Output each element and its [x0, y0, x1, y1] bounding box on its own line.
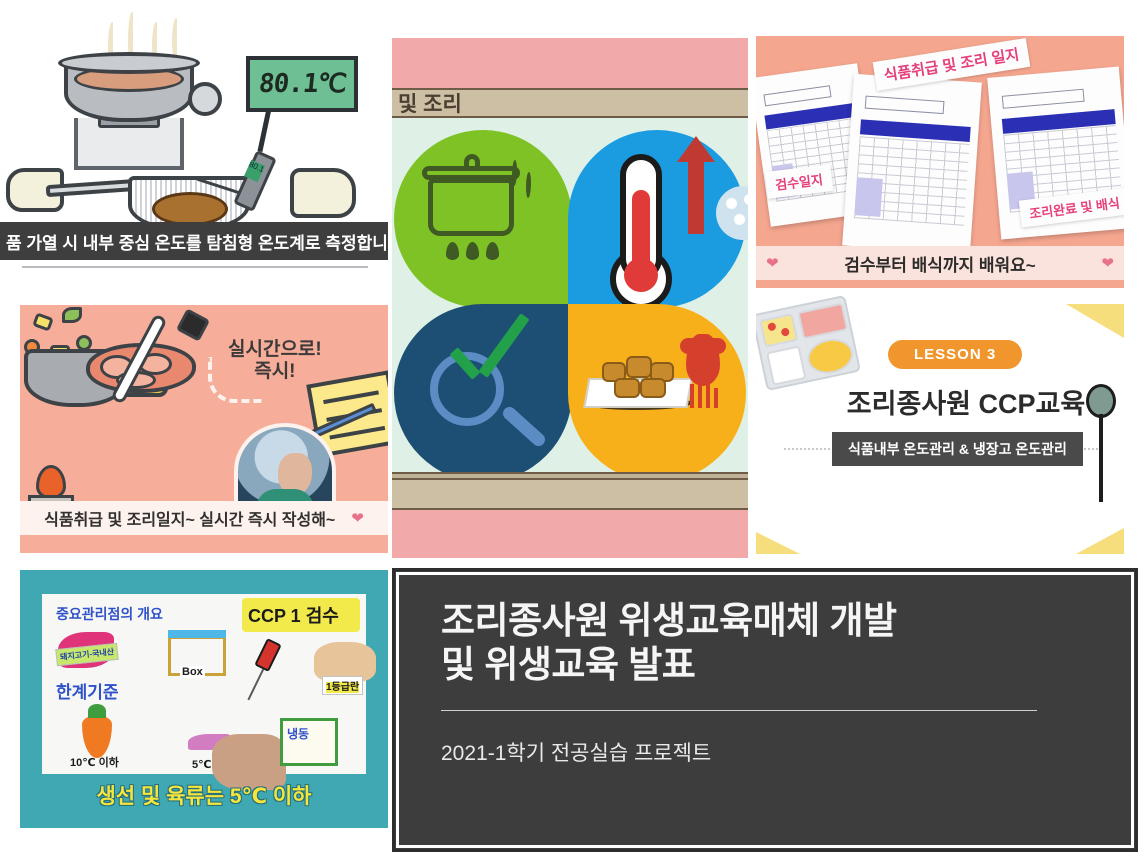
gloved-hand-icon: [290, 168, 356, 218]
title-line-2: 및 위생교육 발표: [441, 643, 1089, 687]
thermometer-display-icon: [176, 308, 210, 341]
drop-magnifier-check: [394, 304, 572, 482]
food-patty-icon: [152, 192, 228, 226]
panel-whiteboard: 중요관리점의 개요 CCP 1 검수 한계기준 돼지고기-국내산 Box 1등급…: [20, 570, 388, 828]
triangle-decor: [1066, 304, 1124, 338]
section-band-bottom: [392, 478, 748, 510]
drop-cooking-pot: [394, 130, 572, 308]
document-sheet-icon: [842, 74, 982, 255]
steam-icon: [172, 18, 179, 58]
whiteboard-photo: 중요관리점의 개요 CCP 1 검수 한계기준 돼지고기-국내산 Box 1등급…: [42, 594, 366, 774]
board-label-egg-text: 1등급란: [326, 682, 359, 693]
heart-icon: ❤: [1101, 254, 1114, 272]
flame-icon: [446, 242, 459, 260]
food-icon: [614, 378, 640, 398]
heart-icon: ❤: [351, 509, 364, 527]
title-card-inner: 조리종사원 위생교육매체 개발 및 위생교육 발표 2021-1학기 전공실습 …: [441, 599, 1089, 825]
spoon-icon: [1086, 384, 1116, 504]
panel-documents: 식품취급 및 조리 일지 검수일지 조리완료 및 배식 ❤ 검수부터 배식까지 …: [756, 36, 1124, 288]
up-arrow-icon: [688, 160, 704, 234]
caption-text: 품 가열 시 내부 중심 온도를 탐침형 온도계로 측정합니다.: [0, 229, 388, 254]
board-criteria-label: 한계기준: [56, 678, 119, 703]
vegetable-icon: [62, 307, 82, 323]
caption-text: 생선 및 육류는 5℃ 이하: [20, 780, 388, 810]
board-label-frozen: 냉동: [287, 725, 309, 742]
callout-tail: [257, 108, 271, 152]
drop-thermometer: [568, 130, 746, 308]
panel-lesson-card: LESSON 3 조리종사원 CCP교육 식품내부 온도관리 & 냉장고 온도관…: [756, 296, 1124, 554]
panel-title-card: 조리종사원 위생교육매체 개발 및 위생교육 발표 2021-1학기 전공실습 …: [392, 568, 1138, 852]
board-highlight-text: CCP 1 검수: [248, 602, 339, 628]
pink-band-bottom: [392, 510, 748, 558]
cooking-pot-icon: [428, 178, 514, 236]
carrot-icon: [82, 716, 112, 758]
page-title: 조리종사원 위생교육매체 개발 및 위생교육 발표: [441, 599, 1089, 688]
section-band: 및 조리: [392, 88, 748, 118]
meal-tray-icon: [756, 296, 861, 391]
squid-icon: [686, 334, 720, 386]
panel-realtime-log: 실시간으로! 즉시! FiRE 식품취급 및 조리일지~ 실시간 즉시 작성해~…: [20, 305, 388, 553]
subtitle: 2021-1학기 전공실습 프로젝트: [441, 737, 1089, 767]
food-icon: [640, 378, 666, 398]
title-line-1: 조리종사원 위생교육매체 개발: [441, 599, 1089, 643]
caption-bar: 식품취급 및 조리일지~ 실시간 즉시 작성해~ ❤: [20, 501, 388, 535]
divider: [22, 266, 368, 268]
drop-plate-squid: [568, 304, 746, 482]
caption-bar: 품 가열 시 내부 중심 온도를 탐침형 온도계로 측정합니다.: [0, 222, 388, 260]
pot-handle-icon: [188, 82, 222, 116]
temperature-readout: 80.1℃: [246, 56, 358, 112]
lesson-subtitle-band: 식품내부 온도관리 & 냉장고 온도관리: [832, 432, 1083, 466]
triangle-decor: [1076, 528, 1124, 554]
flame-icon: [466, 242, 479, 260]
pink-band-top: [392, 38, 748, 88]
flame-icon: [486, 242, 499, 260]
board-temp-carrot: 10℃ 이하: [70, 754, 119, 770]
heart-icon: ❤: [766, 254, 779, 272]
slide-canvas: 80.1 80.1℃ 품 가열 시 내부 중심 온도를 탐침형 온도계로 측정합…: [0, 0, 1144, 858]
temperature-value: 80.1℃: [257, 69, 347, 99]
divider: [441, 710, 1037, 711]
panel-infographic: 및 조리: [392, 38, 748, 558]
caption-text: 식품취급 및 조리일지~ 실시간 즉시 작성해~: [44, 506, 335, 530]
board-label-egg: 1등급란: [322, 676, 363, 695]
dashed-arrow-icon: [208, 357, 262, 403]
board-heading: 중요관리점의 개요: [56, 604, 163, 624]
triangle-decor: [756, 532, 800, 554]
vegetable-icon: [32, 312, 54, 331]
flame-shape: [36, 465, 66, 499]
check-icon: [446, 334, 530, 390]
caption-text: 검수부터 배식까지 배워요~: [779, 251, 1102, 276]
pot-rim-icon: [58, 52, 200, 74]
thermometer-icon: [254, 638, 282, 672]
caption-bar: ❤ 검수부터 배식까지 배워요~ ❤: [756, 246, 1124, 280]
frozen-package-icon: 냉동: [280, 718, 338, 766]
board-label-box: Box: [180, 666, 205, 678]
lesson-title: 조리종사원 CCP교육: [836, 382, 1096, 421]
food-icon: [626, 356, 652, 378]
panel-cooking-probe: 80.1 80.1℃ 품 가열 시 내부 중심 온도를 탐침형 온도계로 측정합…: [0, 0, 388, 288]
lesson-badge: LESSON 3: [888, 340, 1022, 369]
section-band-text: 및 조리: [392, 88, 462, 118]
